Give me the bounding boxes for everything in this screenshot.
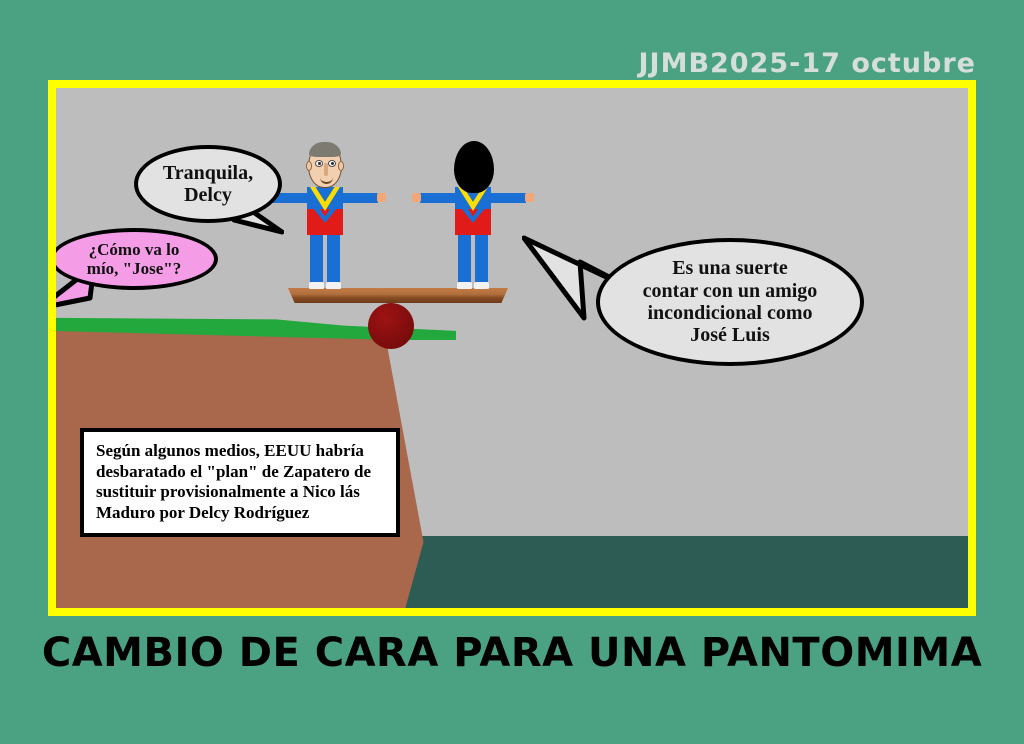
right-shoe bbox=[326, 282, 341, 289]
cartoon-panel: Tranquila, Delcy ¿Cómo va lo mío, "Jose"… bbox=[56, 88, 968, 608]
right-arm bbox=[342, 193, 378, 203]
bubble-line-2: Delcy bbox=[184, 184, 232, 206]
cartoon-canvas: JJMB2025-17 octubre bbox=[0, 0, 1024, 744]
bubble-line-2: contar con un amigo bbox=[643, 280, 818, 302]
left-ear bbox=[306, 161, 312, 171]
fulcrum-ball bbox=[368, 303, 414, 349]
left-shoe bbox=[309, 282, 324, 289]
bubble-line-1: Tranquila, bbox=[163, 162, 253, 184]
caption-box: Según algunos medios, EEUU habría desbar… bbox=[80, 428, 400, 537]
bubble-line-1: ¿Cómo va lo bbox=[89, 240, 180, 259]
bubble-line-3: incondicional como bbox=[647, 302, 812, 324]
right-hand bbox=[377, 193, 386, 202]
figure-delcy bbox=[440, 143, 506, 289]
right-eye bbox=[328, 160, 336, 167]
artist-signature: JJMB2025-17 octubre bbox=[638, 48, 976, 79]
nose bbox=[324, 163, 328, 176]
bubble-line-2: mío, "Jose"? bbox=[87, 259, 181, 278]
bubble-line-1: Es una suerte bbox=[672, 257, 788, 279]
cartoon-title: CAMBIO DE CARA PARA UNA PANTOMIMA bbox=[0, 630, 1024, 676]
figure-zapatero bbox=[292, 143, 358, 289]
right-arm bbox=[490, 193, 526, 203]
right-leg bbox=[475, 233, 488, 285]
left-shoe bbox=[457, 282, 472, 289]
right-hand bbox=[525, 193, 534, 202]
seesaw-plank bbox=[288, 288, 508, 303]
left-hand bbox=[412, 193, 421, 202]
left-leg bbox=[310, 233, 323, 285]
speech-bubble-gratitude: Es una suerte contar con un amigo incond… bbox=[596, 238, 864, 366]
speech-bubble-como-va: ¿Cómo va lo mío, "Jose"? bbox=[56, 228, 218, 290]
mouth bbox=[320, 176, 333, 184]
head-back-of-hair bbox=[454, 141, 494, 193]
left-eye bbox=[315, 160, 323, 167]
speech-bubble-tranquila: Tranquila, Delcy bbox=[134, 145, 282, 223]
hair bbox=[309, 142, 341, 157]
yellow-frame: Tranquila, Delcy ¿Cómo va lo mío, "Jose"… bbox=[48, 80, 976, 616]
right-ear bbox=[338, 161, 344, 171]
right-shoe bbox=[474, 282, 489, 289]
left-leg bbox=[458, 233, 471, 285]
left-arm bbox=[420, 193, 456, 203]
right-leg bbox=[327, 233, 340, 285]
bubble-line-4: José Luis bbox=[690, 324, 769, 346]
